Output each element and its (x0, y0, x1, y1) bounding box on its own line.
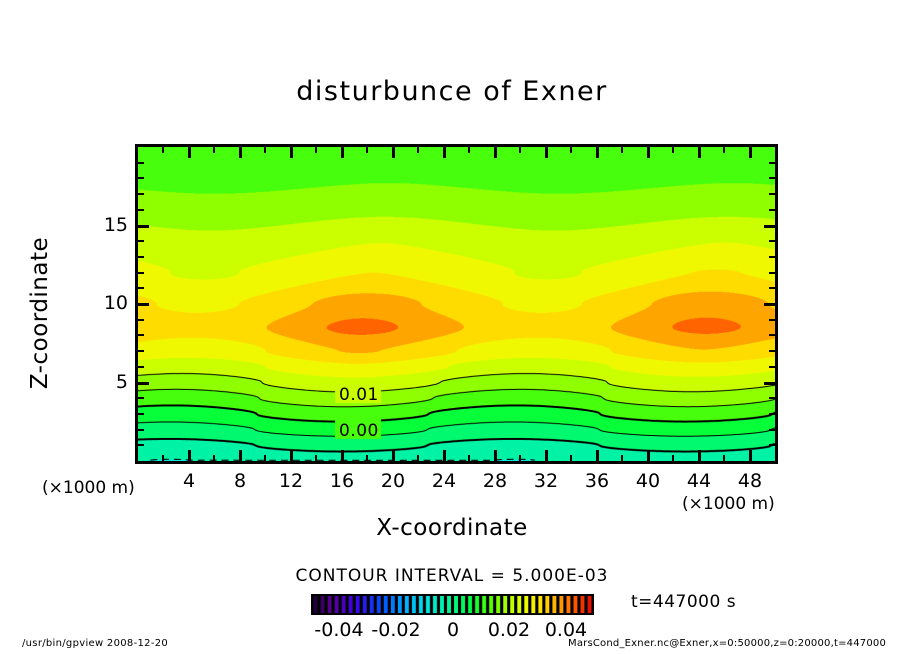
footer-command: /usr/bin/gpview 2008-12-20 (22, 638, 168, 649)
footer-source: MarsCond_Exner.nc@Exner,x=0:50000,z=0:20… (568, 638, 886, 649)
time-label: t=447000 s (631, 592, 736, 612)
colorbar-tick-labels: -0.04-0.0200.020.04 (0, 0, 904, 654)
